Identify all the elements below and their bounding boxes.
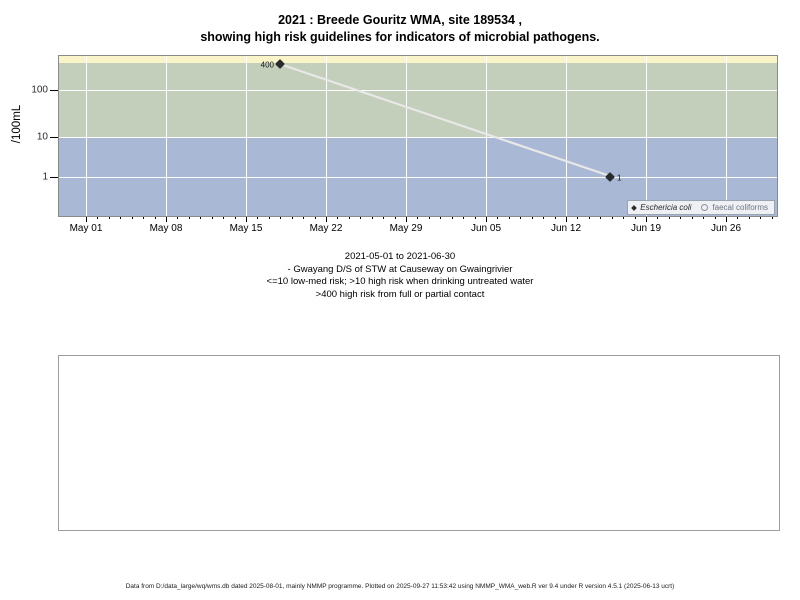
- x-tick-minor: [715, 217, 716, 219]
- chart-title-line-2: showing high risk guidelines for indicat…: [0, 29, 800, 46]
- x-tick-minor: [303, 217, 304, 219]
- x-tick-minor: [292, 217, 293, 219]
- y-tick-mark-1: [50, 177, 58, 178]
- x-tick-label-jun-26: Jun 26: [711, 223, 741, 234]
- x-tick-label-jun-19: Jun 19: [631, 223, 661, 234]
- secondary-plot-panel: [58, 355, 780, 531]
- x-tick-minor: [383, 217, 384, 219]
- x-tick-minor: [132, 217, 133, 219]
- x-tick-minor: [737, 217, 738, 219]
- legend-label-faecal-coliforms: faecal coliforms: [712, 203, 768, 212]
- legend-label-ecoli: Eschericia coli: [640, 203, 691, 212]
- x-tick-minor: [417, 217, 418, 219]
- y-tick-label-100: 100: [8, 85, 48, 96]
- subcaption-risk-contact: >400 high risk from full or partial cont…: [0, 289, 800, 302]
- x-tick-minor: [600, 217, 601, 219]
- open-circle-icon: [701, 204, 708, 211]
- x-tick-minor: [177, 217, 178, 219]
- x-tick-minor: [143, 217, 144, 219]
- x-tick-minor: [772, 217, 773, 219]
- x-tick-minor: [475, 217, 476, 219]
- footer-note: Data from D:/data_large/wq/wms.db dated …: [0, 583, 800, 590]
- subcaption-site-name: - Gwayang D/S of STW at Causeway on Gwai…: [0, 264, 800, 277]
- x-tick-minor: [200, 217, 201, 219]
- x-tick-label-may-01: May 01: [70, 223, 103, 234]
- chart-subcaption: 2021-05-01 to 2021-06-30 - Gwayang D/S o…: [0, 251, 800, 301]
- x-tick-minor: [749, 217, 750, 219]
- x-tick-minor: [532, 217, 533, 219]
- x-axis: May 01 May 08 May 15 May 22 May 29 Jun 0…: [58, 217, 778, 241]
- x-tick-minor: [189, 217, 190, 219]
- x-tick-minor: [97, 217, 98, 219]
- data-point-label-1: 400: [261, 61, 274, 70]
- x-tick-minor: [589, 217, 590, 219]
- x-tick-minor: [440, 217, 441, 219]
- x-tick-mark-jun-26: [726, 217, 727, 222]
- x-tick-minor: [452, 217, 453, 219]
- x-tick-minor: [760, 217, 761, 219]
- x-tick-minor: [555, 217, 556, 219]
- x-tick-minor: [520, 217, 521, 219]
- x-tick-minor: [692, 217, 693, 219]
- legend-entry-faecal-coliforms[interactable]: faecal coliforms: [701, 203, 768, 212]
- x-tick-minor: [669, 217, 670, 219]
- chart-title-line-1: 2021 : Breede Gouritz WMA, site 189534 ,: [0, 12, 800, 29]
- x-tick-minor: [703, 217, 704, 219]
- x-tick-minor: [155, 217, 156, 219]
- x-tick-label-jun-05: Jun 05: [471, 223, 501, 234]
- x-tick-minor: [429, 217, 430, 219]
- x-tick-minor: [120, 217, 121, 219]
- x-tick-mark-may-01: [86, 217, 87, 222]
- chart-title: 2021 : Breede Gouritz WMA, site 189534 ,…: [0, 12, 800, 46]
- x-tick-mark-jun-05: [486, 217, 487, 222]
- y-tick-mark-10: [50, 137, 58, 138]
- x-tick-minor: [497, 217, 498, 219]
- y-tick-label-1: 1: [8, 172, 48, 183]
- filled-diamond-icon: [631, 205, 637, 211]
- x-tick-minor: [577, 217, 578, 219]
- x-tick-minor: [337, 217, 338, 219]
- x-tick-minor: [257, 217, 258, 219]
- subcaption-risk-drinking: <=10 low-med risk; >10 high risk when dr…: [0, 276, 800, 289]
- x-tick-minor: [543, 217, 544, 219]
- subcaption-date-range: 2021-05-01 to 2021-06-30: [0, 251, 800, 264]
- x-tick-minor: [509, 217, 510, 219]
- x-tick-minor: [395, 217, 396, 219]
- series-line-ecoli: [59, 56, 777, 216]
- x-tick-minor: [349, 217, 350, 219]
- x-tick-minor: [269, 217, 270, 219]
- x-tick-minor: [212, 217, 213, 219]
- data-point-label-2: 1: [617, 174, 621, 183]
- y-tick-mark-100: [50, 90, 58, 91]
- x-tick-label-may-15: May 15: [230, 223, 263, 234]
- x-tick-mark-jun-12: [566, 217, 567, 222]
- x-tick-mark-may-29: [406, 217, 407, 222]
- x-tick-minor: [223, 217, 224, 219]
- x-tick-minor: [657, 217, 658, 219]
- x-tick-minor: [360, 217, 361, 219]
- x-tick-minor: [623, 217, 624, 219]
- x-tick-minor: [463, 217, 464, 219]
- x-tick-label-may-08: May 08: [150, 223, 183, 234]
- x-tick-mark-jun-19: [646, 217, 647, 222]
- x-tick-minor: [372, 217, 373, 219]
- x-tick-label-may-22: May 22: [310, 223, 343, 234]
- x-tick-minor: [680, 217, 681, 219]
- x-tick-minor: [635, 217, 636, 219]
- y-tick-label-10: 10: [8, 132, 48, 143]
- legend-entry-ecoli[interactable]: Eschericia coli: [632, 203, 691, 212]
- x-tick-minor: [315, 217, 316, 219]
- x-tick-label-jun-12: Jun 12: [551, 223, 581, 234]
- x-tick-mark-may-15: [246, 217, 247, 222]
- x-tick-minor: [280, 217, 281, 219]
- x-tick-mark-may-22: [326, 217, 327, 222]
- x-tick-minor: [109, 217, 110, 219]
- plot-area: 400 1 Eschericia coli faecal coliforms: [58, 55, 778, 217]
- x-tick-minor: [612, 217, 613, 219]
- x-tick-minor: [235, 217, 236, 219]
- x-tick-label-may-29: May 29: [390, 223, 423, 234]
- legend: Eschericia coli faecal coliforms: [627, 200, 775, 215]
- x-tick-mark-may-08: [166, 217, 167, 222]
